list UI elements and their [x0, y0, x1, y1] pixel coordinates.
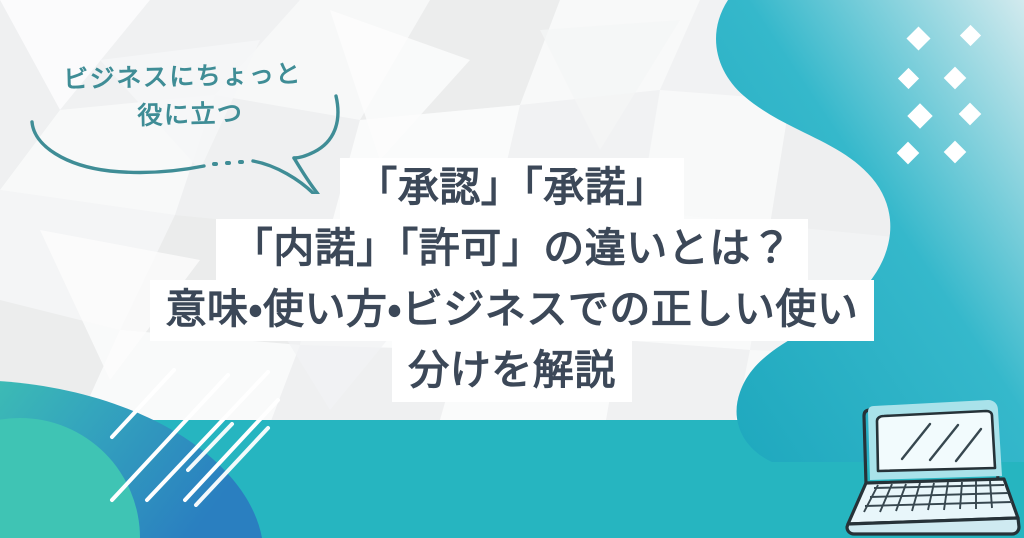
title-line-3-text: 意味・使い方・ビジネスでの正しい使い	[150, 280, 875, 341]
article-thumbnail-banner: ビジネスにちょっと 役に立つ 「承認」「承諾」 「内諾」「許可」の違いとは？ 意…	[0, 0, 1024, 538]
title-line-1: 「承認」「承諾」	[0, 158, 1024, 219]
title-block: 「承認」「承諾」 「内諾」「許可」の違いとは？ 意味・使い方・ビジネスでの正しい…	[0, 158, 1024, 402]
laptop-screen	[877, 411, 995, 471]
laptop-icon	[818, 384, 1024, 538]
speech-bubble-text: ビジネスにちょっと 役に立つ	[17, 54, 349, 138]
laptop-illustration	[818, 384, 1024, 538]
speech-bubble-line-1: ビジネスにちょっと	[17, 54, 348, 100]
title-line-4: 分けを解説	[0, 341, 1024, 402]
title-line-1-text: 「承認」「承諾」	[340, 158, 684, 219]
title-line-4-text: 分けを解説	[392, 341, 632, 402]
title-line-3: 意味・使い方・ビジネスでの正しい使い	[0, 280, 1024, 341]
speech-bubble-line-2: 役に立つ	[18, 92, 349, 138]
title-line-2-text: 「内諾」「許可」の違いとは？	[216, 219, 809, 280]
title-line-2: 「内諾」「許可」の違いとは？	[0, 219, 1024, 280]
